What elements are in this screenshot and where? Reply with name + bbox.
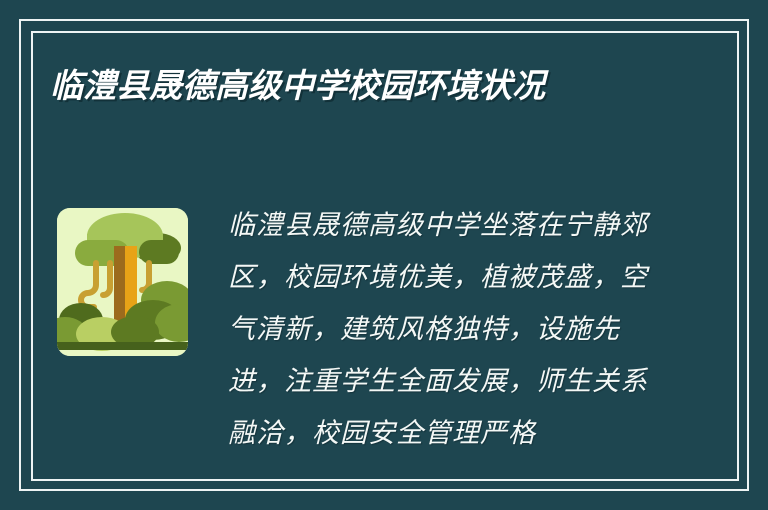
body-block: 临澧县晟德高级中学坐落在宁静郊区，校园环境优美，植被茂盛，空气清新，建筑风格独特… bbox=[228, 200, 658, 460]
body-paragraph: 临澧县晟德高级中学坐落在宁静郊区，校园环境优美，植被茂盛，空气清新，建筑风格独特… bbox=[228, 200, 658, 460]
title-block: 临澧县晟德高级中学校园环境状况 bbox=[50, 62, 595, 110]
content-row: 临澧县晟德高级中学坐落在宁静郊区，校园环境优美，植被茂盛，空气清新，建筑风格独特… bbox=[0, 200, 768, 460]
page-title: 临澧县晟德高级中学校园环境状况 bbox=[50, 62, 595, 110]
tree-illustration-card bbox=[57, 208, 188, 356]
poster-canvas: 临澧县晟德高级中学校园环境状况 bbox=[0, 0, 768, 510]
tree-icon bbox=[57, 208, 188, 356]
